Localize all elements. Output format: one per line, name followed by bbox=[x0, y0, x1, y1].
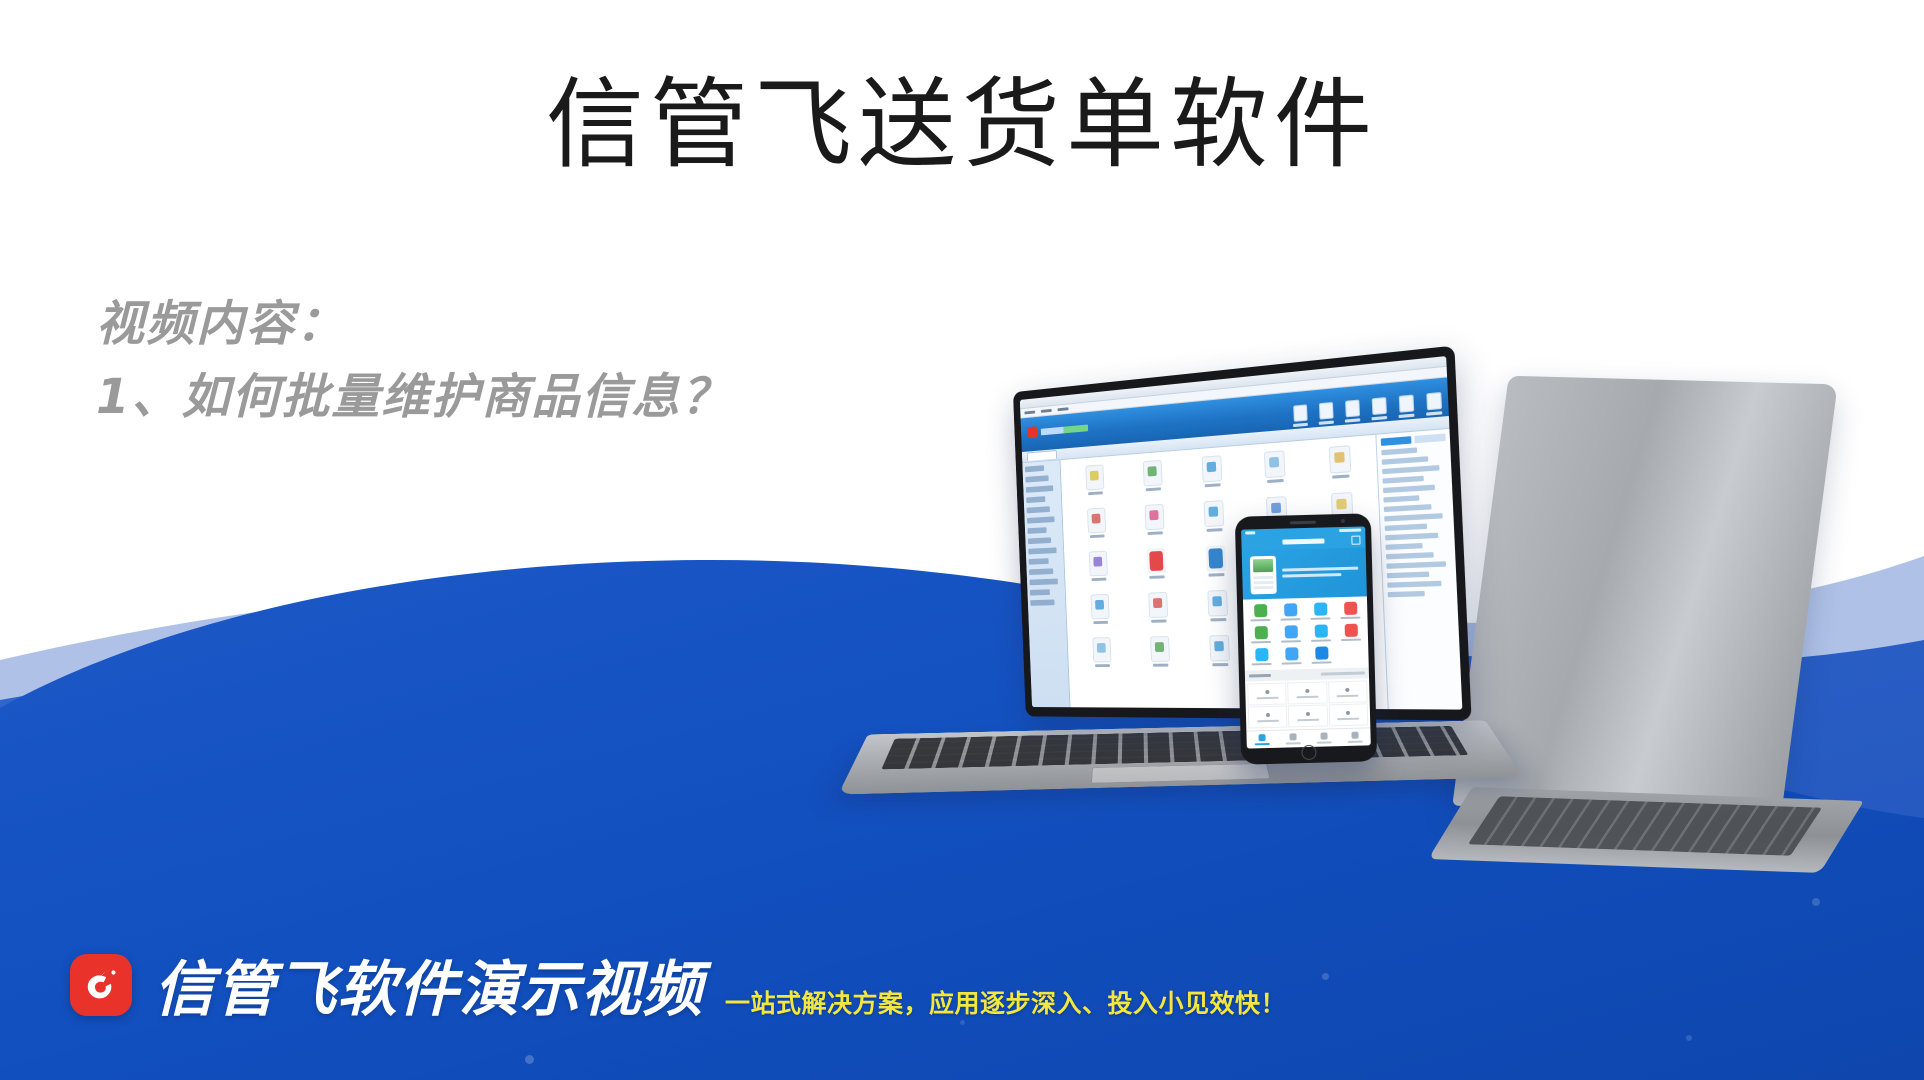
footer-branding: 信管飞软件演示视频 一站式解决方案，应用逐步深入、投入小见效快！ bbox=[70, 941, 1286, 1028]
phone-function-icon bbox=[1254, 604, 1267, 617]
app-desktop-icon-glyph bbox=[1090, 594, 1109, 619]
app-desktop-icon-glyph bbox=[1264, 450, 1286, 478]
app-desktop-icon-label bbox=[1147, 531, 1162, 535]
phone-tab-item[interactable] bbox=[1246, 731, 1277, 749]
laptop-base bbox=[838, 720, 1523, 794]
phone-stat-value bbox=[1305, 689, 1309, 693]
app-ribbon-tool-icon bbox=[1293, 404, 1308, 422]
app-right-panel bbox=[1375, 429, 1462, 710]
phone-tab-label bbox=[1348, 741, 1363, 743]
app-sidebar-item[interactable] bbox=[1027, 527, 1047, 534]
app-sidebar-item[interactable] bbox=[1025, 465, 1044, 472]
phone-tab-icon bbox=[1320, 733, 1327, 740]
app-desktop-icon[interactable] bbox=[1128, 547, 1186, 588]
app-right-panel-tab[interactable] bbox=[1414, 433, 1445, 443]
app-ribbon-tool[interactable] bbox=[1398, 395, 1415, 419]
banner-device-illustration bbox=[1250, 555, 1277, 594]
app-desktop-icon[interactable] bbox=[1308, 444, 1373, 490]
app-right-panel-row[interactable] bbox=[1387, 581, 1441, 588]
app-tab[interactable] bbox=[1027, 450, 1057, 461]
phone-stat-label bbox=[1337, 694, 1359, 697]
phone-stat-label bbox=[1337, 717, 1359, 720]
app-desktop-icon-glyph bbox=[1092, 637, 1111, 662]
phone-stat-cell[interactable] bbox=[1287, 682, 1327, 705]
app-ribbon-tool-label bbox=[1426, 411, 1442, 416]
app-sidebar-item[interactable] bbox=[1030, 589, 1050, 595]
app-sidebar-item[interactable] bbox=[1028, 547, 1056, 554]
slide-root: 信管飞送货单软件 视频内容： 1、如何批量维护商品信息？ bbox=[0, 0, 1924, 1080]
phone-function-icon bbox=[1254, 626, 1267, 639]
app-desktop-icon-glyph bbox=[1208, 590, 1229, 617]
phone-function-label bbox=[1251, 641, 1271, 644]
phone-stat-value bbox=[1346, 688, 1350, 692]
phone-function-icon bbox=[1255, 648, 1268, 661]
app-desktop-icon-label bbox=[1332, 474, 1349, 478]
phone-stat-cell[interactable] bbox=[1288, 705, 1328, 728]
app-sidebar-item[interactable] bbox=[1027, 506, 1050, 513]
video-content-item-1: 1、如何批量维护商品信息？ bbox=[96, 361, 996, 434]
phone-function-label bbox=[1281, 640, 1301, 643]
phone-tab-label bbox=[1286, 742, 1301, 744]
video-content-block: 视频内容： 1、如何批量维护商品信息？ bbox=[96, 288, 996, 434]
phone-tab-icon bbox=[1351, 732, 1358, 739]
banner-text bbox=[1282, 566, 1358, 580]
app-ribbon-tool-icon bbox=[1318, 402, 1333, 420]
phone-function-icon bbox=[1314, 625, 1327, 638]
app-desktop-icon-label bbox=[1095, 664, 1110, 667]
phone-stat-label bbox=[1257, 719, 1279, 722]
app-desktop-icon-glyph bbox=[1204, 500, 1225, 527]
phone-function-cell[interactable] bbox=[1247, 648, 1275, 666]
app-sidebar-item[interactable] bbox=[1026, 485, 1053, 493]
section-filters bbox=[1321, 672, 1365, 676]
device-photo-cluster bbox=[880, 370, 1924, 970]
phone-function-icon bbox=[1314, 603, 1327, 616]
app-ribbon-tool[interactable] bbox=[1425, 392, 1442, 416]
phone-function-cell[interactable] bbox=[1277, 647, 1305, 665]
decorative-dot bbox=[525, 1055, 534, 1064]
app-right-panel-tab[interactable] bbox=[1381, 436, 1412, 446]
smartphone bbox=[1235, 513, 1377, 764]
app-desktop-icon[interactable] bbox=[1067, 463, 1123, 505]
app-menu-item[interactable] bbox=[1024, 411, 1035, 415]
phone-function-cell[interactable] bbox=[1336, 602, 1364, 620]
app-right-panel-row[interactable] bbox=[1384, 513, 1442, 521]
phone-function-icon bbox=[1284, 626, 1297, 639]
phone-function-cell[interactable] bbox=[1246, 604, 1274, 622]
app-ribbon-tool-label bbox=[1319, 421, 1334, 425]
phone-function-cell[interactable] bbox=[1307, 647, 1335, 665]
phone-function-label bbox=[1310, 618, 1330, 621]
app-desktop-icon-label bbox=[1088, 491, 1103, 495]
phone-function-cell[interactable] bbox=[1247, 626, 1275, 644]
section-title bbox=[1249, 674, 1271, 678]
app-desktop-icon-glyph bbox=[1202, 455, 1223, 482]
app-desktop-icon[interactable] bbox=[1074, 637, 1130, 676]
app-ribbon-tool-icon bbox=[1345, 400, 1360, 418]
app-desktop-icon-label bbox=[1207, 528, 1223, 532]
phone-function-label bbox=[1282, 662, 1302, 665]
app-right-panel-row[interactable] bbox=[1381, 447, 1416, 455]
phone-function-label bbox=[1340, 617, 1360, 620]
app-right-panel-row[interactable] bbox=[1382, 456, 1429, 465]
phone-function-cell[interactable] bbox=[1337, 624, 1365, 642]
app-desktop-icon-label bbox=[1209, 573, 1225, 577]
app-desktop-icon-label bbox=[1149, 575, 1164, 579]
app-right-panel-row[interactable] bbox=[1386, 543, 1423, 550]
app-desktop-icon-label bbox=[1090, 534, 1105, 538]
phone-stat-value bbox=[1306, 712, 1310, 716]
app-desktop-icon[interactable] bbox=[1131, 636, 1189, 676]
phone-tab-icon bbox=[1258, 734, 1265, 741]
phone-function-cell[interactable] bbox=[1277, 625, 1305, 643]
phone-function-label bbox=[1280, 618, 1300, 621]
app-desktop-icon-label bbox=[1205, 483, 1221, 487]
app-right-panel-row[interactable] bbox=[1383, 495, 1419, 502]
app-desktop-icon[interactable] bbox=[1129, 591, 1187, 632]
banner-device-screen bbox=[1253, 558, 1273, 572]
app-desktop-icon[interactable] bbox=[1244, 449, 1307, 494]
app-right-panel-row[interactable] bbox=[1382, 465, 1440, 474]
decorative-dot bbox=[1686, 1035, 1692, 1041]
phone-stat-cell[interactable] bbox=[1248, 706, 1288, 729]
phone-tab-item[interactable] bbox=[1339, 729, 1370, 747]
app-ribbon-tool[interactable] bbox=[1292, 404, 1308, 427]
app-right-panel-row[interactable] bbox=[1384, 504, 1431, 512]
app-ribbon-tool-label bbox=[1399, 414, 1415, 419]
banner-device-keypad bbox=[1253, 573, 1273, 589]
phone-function-icon bbox=[1284, 604, 1297, 617]
phone-function-icon bbox=[1315, 647, 1328, 660]
app-desktop-icon-label bbox=[1153, 664, 1168, 667]
phone-camera-icon bbox=[1341, 519, 1345, 523]
video-content-heading: 视频内容： bbox=[96, 288, 996, 361]
app-ribbon-tool[interactable] bbox=[1318, 402, 1334, 425]
phone-function-label bbox=[1312, 662, 1332, 665]
phone-tab-label bbox=[1317, 741, 1332, 743]
app-menu-item[interactable] bbox=[1041, 409, 1052, 413]
phone-stat-value bbox=[1266, 713, 1270, 717]
app-sidebar-item[interactable] bbox=[1027, 516, 1055, 523]
app-desktop-icon-glyph bbox=[1146, 548, 1166, 574]
app-desktop-icon-label bbox=[1093, 621, 1108, 624]
app-menu-item[interactable] bbox=[1058, 407, 1069, 411]
phone-stat-label bbox=[1256, 696, 1278, 699]
app-brand bbox=[1027, 422, 1088, 439]
phone-stat-label bbox=[1297, 718, 1319, 721]
phone-screen bbox=[1241, 526, 1371, 748]
laptop-closed-rear bbox=[1452, 376, 1837, 814]
app-desktop-icon[interactable] bbox=[1073, 593, 1129, 633]
app-right-panel-row[interactable] bbox=[1387, 572, 1430, 579]
phone-tab-item[interactable] bbox=[1308, 729, 1339, 747]
phone-stat-cell[interactable] bbox=[1328, 704, 1368, 727]
phone-function-label bbox=[1311, 640, 1331, 643]
phone-stat-value bbox=[1265, 690, 1269, 694]
phone-function-cell[interactable] bbox=[1307, 625, 1335, 643]
phone-clock-icon bbox=[1245, 531, 1255, 534]
phone-function-icon bbox=[1285, 648, 1298, 661]
app-desktop-icon-label bbox=[1267, 479, 1284, 483]
app-ribbon-tool-icon bbox=[1371, 397, 1386, 415]
app-right-panel-tabs bbox=[1381, 433, 1446, 445]
app-desktop-icon-glyph bbox=[1210, 635, 1231, 661]
app-desktop-icon-glyph bbox=[1142, 460, 1162, 487]
app-desktop-icon-label bbox=[1213, 663, 1229, 666]
footer-tagline: 一站式解决方案，应用逐步深入、投入小见效快！ bbox=[725, 984, 1286, 1020]
phone-signal-battery-icons bbox=[1339, 528, 1361, 532]
laptop-keyboard bbox=[881, 726, 1468, 769]
app-ribbon-tool-icon bbox=[1426, 392, 1442, 410]
app-desktop-icon-label bbox=[1211, 618, 1227, 621]
app-ribbon-tool[interactable] bbox=[1344, 399, 1360, 422]
phone-function-cell[interactable] bbox=[1276, 603, 1304, 621]
phone-stat-label bbox=[1296, 695, 1318, 698]
app-sidebar-item[interactable] bbox=[1025, 475, 1048, 482]
app-desktop-icon-glyph bbox=[1148, 592, 1168, 618]
app-sidebar-item[interactable] bbox=[1026, 496, 1045, 503]
app-desktop-icon-glyph bbox=[1144, 504, 1164, 530]
app-right-panel-row[interactable] bbox=[1388, 591, 1426, 597]
app-desktop-icon-glyph bbox=[1085, 464, 1104, 490]
hamburger-menu-icon[interactable] bbox=[1351, 536, 1360, 545]
phone-tab-label bbox=[1255, 743, 1270, 745]
app-desktop-icon-label bbox=[1145, 487, 1160, 491]
phone-function-cell[interactable] bbox=[1306, 603, 1334, 621]
app-ribbon-tool-label bbox=[1345, 418, 1360, 422]
xinguanfei-bird-logo-icon bbox=[70, 954, 132, 1016]
app-right-panel-row[interactable] bbox=[1383, 476, 1424, 484]
slide-title: 信管飞送货单软件 bbox=[0, 68, 1924, 184]
app-ribbon-tool-label bbox=[1371, 416, 1387, 420]
app-desktop-icon-glyph bbox=[1087, 508, 1106, 534]
phone-function-icon bbox=[1344, 624, 1357, 637]
app-desktop-icon-label bbox=[1151, 619, 1166, 622]
phone-tab-icon bbox=[1289, 733, 1296, 740]
app-desktop-icon[interactable] bbox=[1183, 454, 1243, 498]
app-logo-icon bbox=[1027, 426, 1037, 438]
phone-function-label bbox=[1252, 663, 1272, 666]
app-right-panel-row[interactable] bbox=[1386, 561, 1445, 569]
app-brand-text bbox=[1041, 424, 1088, 435]
phone-stat-cell[interactable] bbox=[1328, 681, 1368, 704]
footer-brand-name: 信管飞软件演示视频 bbox=[154, 941, 703, 1028]
app-right-panel-row[interactable] bbox=[1383, 485, 1435, 494]
phone-function-icon bbox=[1344, 602, 1357, 615]
phone-stat-cell[interactable] bbox=[1247, 683, 1287, 706]
app-desktop-icon-glyph bbox=[1150, 636, 1170, 662]
app-desktop-icon-glyph bbox=[1089, 551, 1108, 577]
decorative-dot bbox=[1322, 973, 1329, 980]
app-sidebar-item[interactable] bbox=[1028, 537, 1052, 544]
app-ribbon-tool[interactable] bbox=[1371, 397, 1388, 420]
app-desktop-icon[interactable] bbox=[1069, 506, 1125, 547]
app-ribbon-tool-icon bbox=[1398, 395, 1414, 413]
app-desktop-icon[interactable] bbox=[1124, 458, 1182, 501]
phone-function-label bbox=[1250, 619, 1270, 622]
app-desktop-icon-glyph bbox=[1329, 445, 1351, 473]
app-desktop-icon[interactable] bbox=[1071, 550, 1127, 591]
phone-banner bbox=[1242, 547, 1367, 600]
phone-stats-grid bbox=[1245, 679, 1370, 731]
phone-function-grid bbox=[1243, 597, 1369, 671]
phone-stat-value bbox=[1346, 711, 1350, 715]
app-right-panel-row[interactable] bbox=[1385, 533, 1438, 541]
laptop-trackpad bbox=[1091, 763, 1271, 783]
app-right-panel-row[interactable] bbox=[1385, 524, 1427, 531]
app-sidebar-item[interactable] bbox=[1029, 558, 1049, 565]
app-ribbon-tool-label bbox=[1293, 423, 1308, 427]
app-sidebar-item[interactable] bbox=[1030, 599, 1054, 605]
app-sidebar-item[interactable] bbox=[1029, 579, 1057, 586]
app-sidebar-item[interactable] bbox=[1029, 568, 1053, 575]
app-right-panel-row[interactable] bbox=[1386, 552, 1434, 559]
phone-speaker-icon bbox=[1290, 521, 1316, 525]
phone-home-button[interactable] bbox=[1301, 745, 1316, 760]
phone-app-title bbox=[1282, 539, 1324, 545]
app-desktop-icon-glyph bbox=[1206, 545, 1227, 572]
phone-function-label bbox=[1341, 639, 1361, 642]
app-desktop-icon[interactable] bbox=[1126, 503, 1184, 545]
app-desktop-icon-label bbox=[1091, 578, 1106, 581]
